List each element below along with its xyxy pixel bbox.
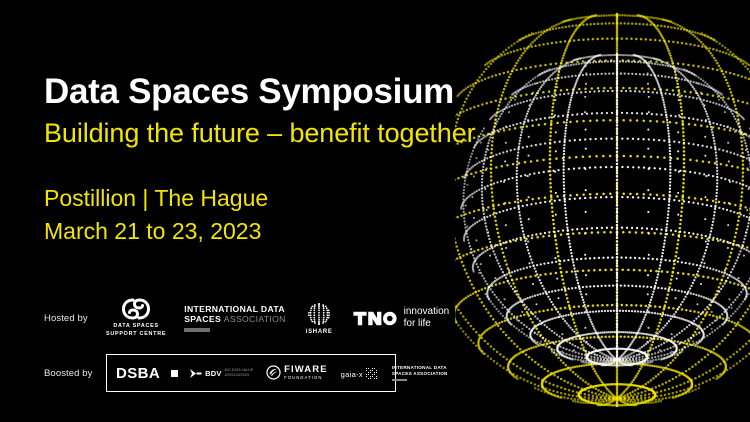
fiware-line-2: FOUNDATION (284, 375, 328, 380)
dsba-wordmark: DSBA (116, 365, 160, 382)
logo-ishare[interactable]: iSHARE (306, 302, 333, 335)
page-title: Data Spaces Symposium (44, 72, 454, 111)
gaiax-wordmark: gaia-x (341, 370, 363, 380)
idsa-underline-bar (184, 328, 210, 332)
page-tagline: Building the future – benefit together (44, 118, 476, 149)
bdv-arrow-icon (189, 368, 202, 379)
logo-idsa[interactable]: INTERNATIONAL DATA SPACES ASSOCIATION (184, 304, 286, 332)
event-venue: Postillion | The Hague (44, 182, 268, 215)
logo-dssc[interactable]: DATA SPACES SUPPORT CENTRE (106, 298, 166, 338)
poster-canvas: Data Spaces Symposium Building the futur… (0, 0, 750, 422)
logo-tno[interactable]: innovation for life (353, 306, 450, 330)
tno-mark-icon (353, 310, 397, 327)
gaiax-grid-icon (365, 367, 378, 380)
dsba-logo-bar[interactable]: DSBA BDV BIG DATA VALUE ASSOCIATION (106, 354, 396, 392)
logo-fiware[interactable]: FIWARE FOUNDATION (266, 365, 328, 381)
dssc-wordmark: DATA SPACES SUPPORT CENTRE (106, 323, 166, 338)
hosted-by-label: Hosted by (44, 313, 106, 324)
fiware-swirl-icon (266, 365, 281, 380)
bdv-wordmark: BDV (205, 369, 221, 378)
idsa-association-word: ASSOCIATION (224, 314, 286, 324)
boosted-by-row: Boosted by DSBA BDV BIG DATA VALUE ASSOC… (44, 352, 396, 394)
boosted-by-label: Boosted by (44, 368, 106, 379)
dssc-line-1: DATA SPACES (106, 323, 166, 330)
logo-gaiax[interactable]: gaia-x (341, 367, 378, 380)
hosted-by-row: Hosted by DATA SPACES SUPPORT CENTRE INT… (44, 296, 449, 340)
dssc-mark-icon (122, 298, 150, 320)
ishare-sphere-icon (307, 302, 331, 326)
fiware-wordmark: FIWARE FOUNDATION (284, 365, 328, 381)
dotted-globe-graphic (455, 0, 750, 422)
logo-bdv[interactable]: BDV BIG DATA VALUE ASSOCIATION (189, 368, 253, 379)
separator-square (171, 370, 178, 377)
ishare-wordmark: iSHARE (306, 329, 333, 335)
tno-tagline-1: innovation (404, 306, 450, 318)
bdv-sub-2: ASSOCIATION (225, 373, 254, 378)
idsa-line-2: SPACES ASSOCIATION (184, 314, 286, 324)
bdv-subtext: BIG DATA VALUE ASSOCIATION (225, 368, 254, 378)
tno-tagline-2: for life (404, 318, 450, 330)
fiware-line-1: FIWARE (284, 365, 328, 375)
logo-idsa-small[interactable]: INTERNATIONAL DATA SPACES ASSOCIATION (392, 365, 448, 381)
idsa-spaces-word: SPACES (184, 314, 221, 324)
event-details: Postillion | The Hague March 21 to 23, 2… (44, 182, 268, 247)
event-dates: March 21 to 23, 2023 (44, 215, 268, 248)
idsa-line-1: INTERNATIONAL DATA (184, 304, 286, 314)
dssc-line-2: SUPPORT CENTRE (106, 331, 166, 338)
idsa-small-line-2: SPACES ASSOCIATION (392, 371, 448, 377)
hosted-logos: DATA SPACES SUPPORT CENTRE INTERNATIONAL… (106, 296, 449, 340)
idsa-small-bar (392, 379, 407, 381)
tno-tagline: innovation for life (404, 306, 450, 330)
